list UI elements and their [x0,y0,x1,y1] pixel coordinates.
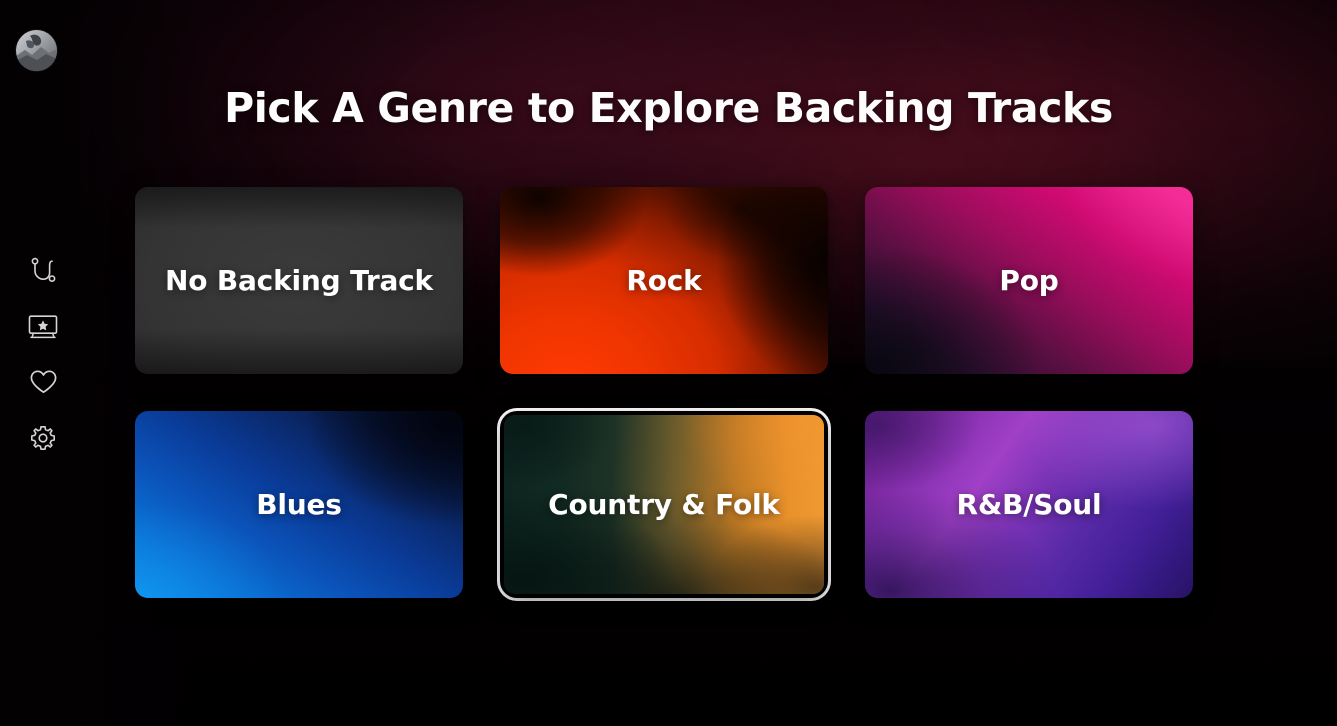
genre-card-wrap[interactable]: No Backing Track [135,187,463,374]
avatar-image [16,30,57,71]
sidebar-item-settings[interactable] [21,423,65,453]
gear-icon [30,425,56,451]
genre-card-rock[interactable]: Rock [500,187,828,374]
genre-card-wrap-selected[interactable]: Country & Folk [500,411,828,598]
genre-card-pop[interactable]: Pop [865,187,1193,374]
genre-card-label: Rock [614,264,713,297]
genre-card-country-and-folk[interactable]: Country & Folk [504,415,824,594]
genre-card-wrap[interactable]: Blues [135,411,463,598]
genre-card-label: Blues [244,488,354,521]
app-root: Pick A Genre to Explore Backing Tracks N… [0,0,1337,726]
user-avatar[interactable] [16,30,57,71]
genre-card-wrap[interactable]: Pop [865,187,1193,374]
genre-card-label: Pop [987,264,1070,297]
genre-card-rnb-soul[interactable]: R&B/Soul [865,411,1193,598]
sidebar-item-featured[interactable] [21,311,65,341]
heart-icon [29,369,58,395]
genre-grid: No Backing Track Rock Pop Blues [135,187,1193,598]
genre-card-wrap[interactable]: R&B/Soul [865,411,1193,598]
sidebar-item-practice-path[interactable] [21,255,65,285]
genre-card-label: R&B/Soul [945,488,1114,521]
genre-card-label: Country & Folk [536,488,792,521]
genre-card-wrap[interactable]: Rock [500,187,828,374]
genre-card-blues[interactable]: Blues [135,411,463,598]
genre-card-no-backing-track[interactable]: No Backing Track [135,187,463,374]
tv-star-icon [28,314,58,339]
route-path-icon [30,257,57,283]
page-title: Pick A Genre to Explore Backing Tracks [0,84,1337,132]
genre-card-label: No Backing Track [153,264,445,297]
sidebar-nav [0,255,86,453]
sidebar-item-favorites[interactable] [21,367,65,397]
